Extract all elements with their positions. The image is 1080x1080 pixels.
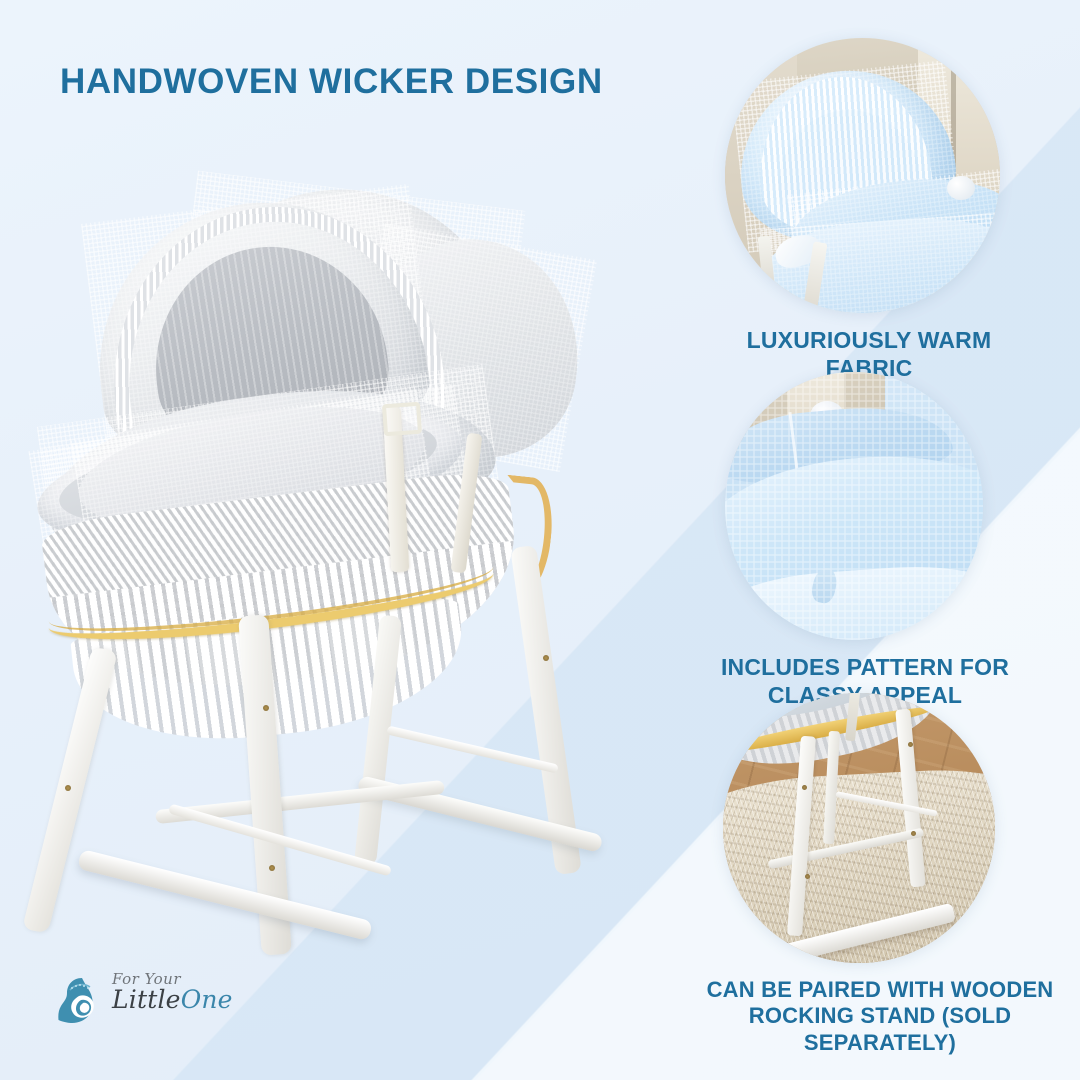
feature-2-photo [725,372,983,640]
brand-line-2: LittleOne [112,987,262,1013]
feature-1-photo [725,38,1000,313]
brand-logo: For Your LittleOne [52,968,252,1034]
stand-screw [65,785,71,791]
stand-screw [263,705,269,711]
feature-card-2: INCLUDES PATTERN FOR CLASSY APPEAL [700,372,1030,709]
feature-3-caption: CAN BE PAIRED WITH WOODEN ROCKING STAND … [680,977,1080,1056]
brand-wordmark: For Your LittleOne [112,970,262,1013]
mother-and-baby-icon [52,972,108,1028]
strap-buckle [382,402,422,437]
product-feature-graphic: HANDWOVEN WICKER DESIGN [0,0,1080,1080]
feature-card-3: CAN BE PAIRED WITH WOODEN ROCKING STAND … [680,693,1080,1056]
page-title: HANDWOVEN WICKER DESIGN [60,62,720,101]
stand-screw [543,655,549,661]
stand-rocker-front [77,849,373,941]
feature-3-photo [723,693,995,963]
brand-one: One [181,985,233,1014]
feature-card-1: LUXURIOUSLY WARM FABRIC [700,38,1030,382]
brand-little: Little [112,985,181,1014]
hero-product-image [35,185,655,995]
stand-screw [269,865,275,871]
stand-dowel-back [386,725,559,773]
